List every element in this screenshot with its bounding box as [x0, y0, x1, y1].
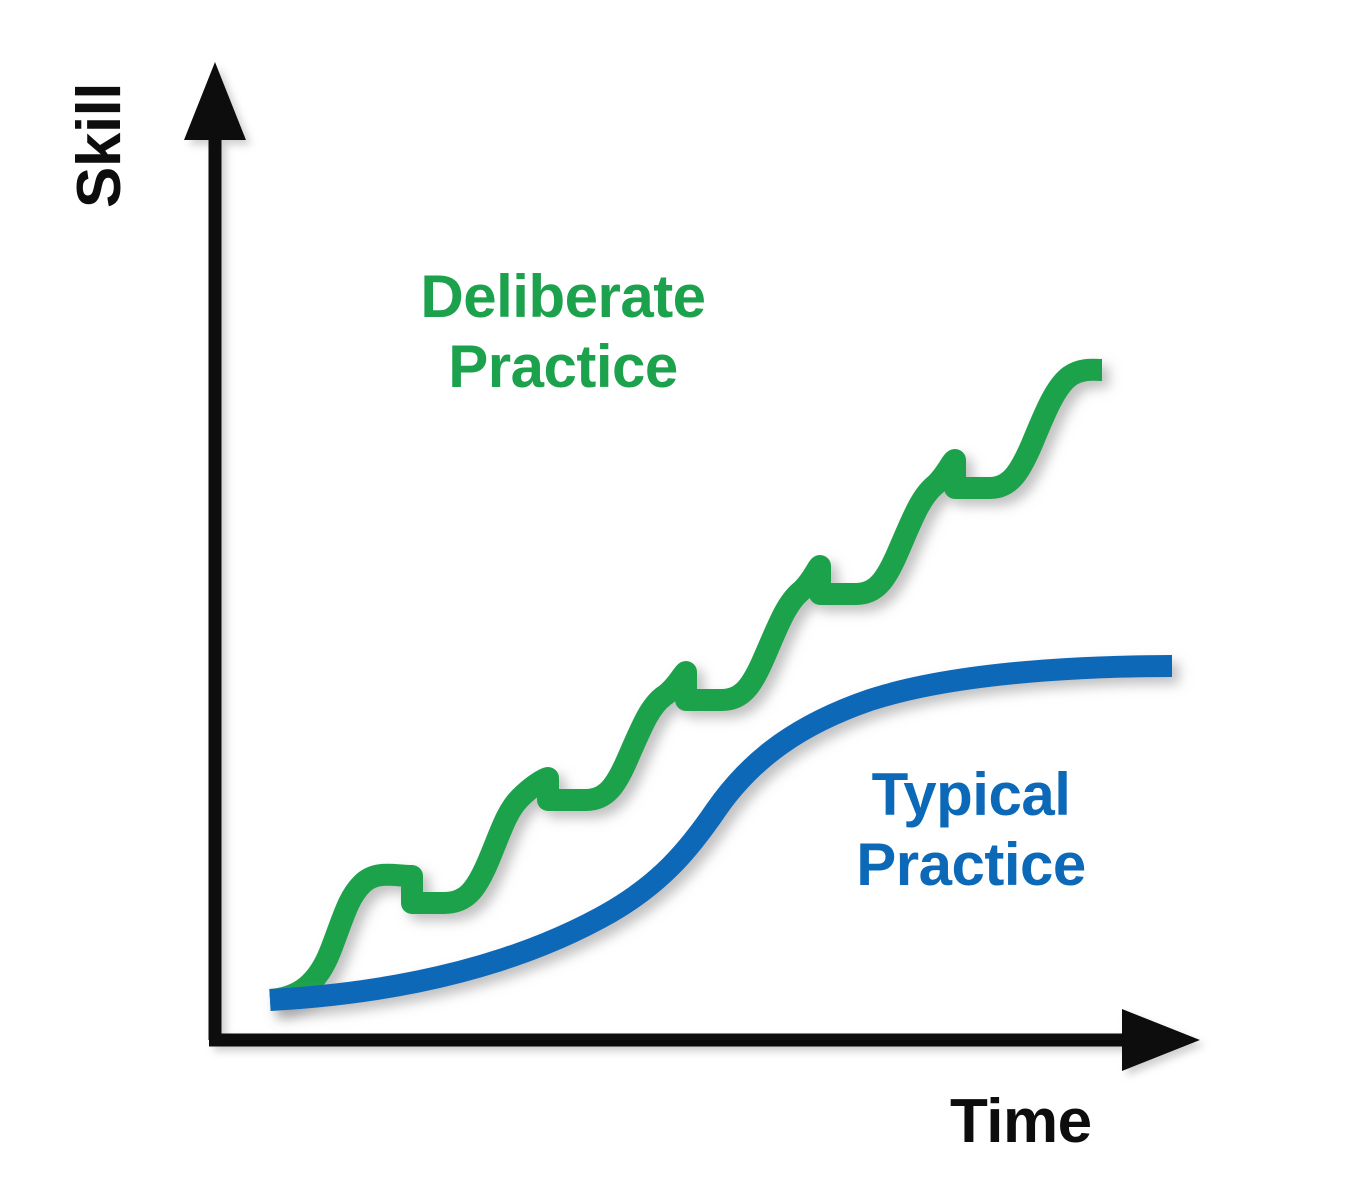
x-axis-title-text: Time	[950, 1087, 1092, 1156]
chart-figure: Skill Time Deliberate Practice Typical P…	[0, 0, 1360, 1198]
series-label-typical-practice: Typical Practice	[806, 760, 1136, 900]
y-axis-title-text: Skill	[64, 82, 135, 207]
chart-canvas	[0, 0, 1360, 1198]
x-axis-title: Time	[950, 1086, 1092, 1157]
x-axis-arrow	[1122, 1009, 1200, 1071]
data-curves-group	[270, 370, 1172, 1000]
y-axis-title: Skill	[0, 0, 200, 290]
series-label-deliberate-practice: Deliberate Practice	[348, 262, 778, 402]
